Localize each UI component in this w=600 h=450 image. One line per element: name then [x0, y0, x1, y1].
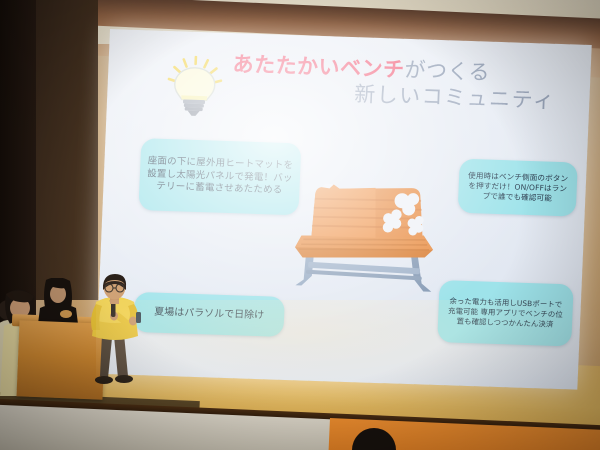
slide-title-highlight: あたたかいベンチ [232, 52, 405, 82]
podium-speaker [36, 278, 80, 324]
slide-title-block: あたたかいベンチがつくる 新しいコミュニティ [167, 49, 567, 62]
callout-button-onoff[interactable]: 使用時はベンチ側面のボタンを押すだけ！ON/OFFはランプで誰でも確認可能 [458, 159, 578, 217]
callout-parasol-text: 夏場はパラソルで日除け [154, 306, 265, 323]
projection-screen: あたたかいベンチがつくる 新しいコミュニティ [96, 29, 592, 390]
callout-parasol[interactable]: 夏場はパラソルで日除け [133, 292, 285, 337]
lightbulb-icon [164, 55, 225, 119]
callout-button-onoff-text: 使用時はベンチ側面のボタンを押すだけ！ON/OFFはランプで誰でも確認可能 [465, 171, 570, 205]
presentation-photo-scene: あたたかいベンチがつくる 新しいコミュニティ [0, 0, 600, 450]
callout-heat-mat[interactable]: 座面の下に屋外用ヒートマットを設置し太陽光パネルで発電！バッテリーに蓄電させあた… [138, 138, 301, 215]
slide-title-rest: がつくる [404, 58, 491, 85]
presenter [84, 274, 146, 386]
slide-title-text: あたたかいベンチがつくる 新しいコミュニティ [231, 51, 563, 115]
hall-wall-left-shadow [0, 0, 36, 330]
bench-illustration [281, 175, 456, 299]
microphone-icon [111, 302, 116, 317]
callout-usb-app-text: 余った電力も活用しUSBポートで充電可能 専用アプリでベンチの位置も確認しつつか… [445, 296, 566, 330]
callout-heat-mat-text: 座面の下に屋外用ヒートマットを設置し太陽光パネルで発電！バッテリーに蓄電させあた… [146, 155, 294, 198]
callout-usb-app[interactable]: 余った電力も活用しUSBポートで充電可能 専用アプリでベンチの位置も確認しつつか… [437, 280, 574, 346]
